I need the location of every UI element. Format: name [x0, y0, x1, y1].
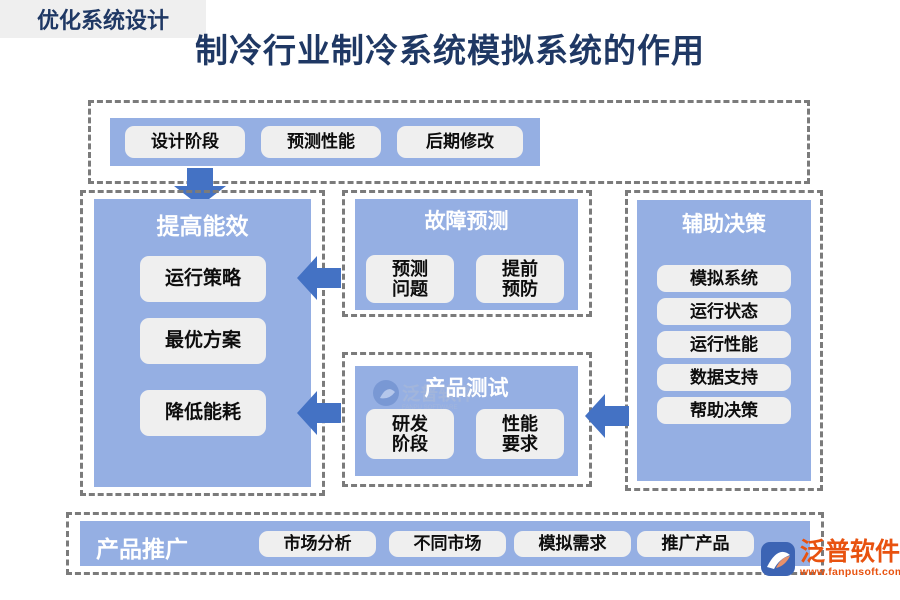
chip-rd-stage[interactable]: 研发 阶段: [366, 409, 454, 459]
chip-optimal-plan[interactable]: 最优方案: [140, 318, 266, 364]
top-chip-predict-performance[interactable]: 预测性能: [261, 126, 381, 158]
chip-predict-problem[interactable]: 预测 问题: [366, 255, 454, 303]
brand-logo[interactable]: 泛普软件 www.fanpusoft.com: [760, 540, 900, 578]
chip-line-1: 研发: [392, 414, 428, 434]
top-chip-later-modification[interactable]: 后期修改: [397, 126, 523, 158]
chip-line-2: 预防: [502, 279, 538, 299]
chip-line-1: 提前: [502, 259, 538, 279]
chip-market-analysis[interactable]: 市场分析: [259, 531, 376, 557]
arrow-left-icon-decision-to-testing: [585, 392, 629, 440]
fault-prediction-title: 故障预测: [355, 205, 578, 235]
chip-simulate-demand[interactable]: 模拟需求: [514, 531, 631, 557]
chip-early-prevention[interactable]: 提前 预防: [476, 255, 564, 303]
chip-line-1: 性能: [502, 414, 538, 434]
chip-line-2: 要求: [502, 434, 538, 454]
chip-operation-strategy[interactable]: 运行策略: [140, 256, 266, 302]
chip-reduce-energy[interactable]: 降低能耗: [140, 390, 266, 436]
product-promotion-title: 产品推广: [96, 530, 246, 564]
chip-different-market[interactable]: 不同市场: [389, 531, 506, 557]
arrow-left-icon-fault-to-efficiency: [297, 254, 341, 302]
chip-simulation-system[interactable]: 模拟系统: [657, 265, 791, 292]
improve-efficiency-title: 提高能效: [94, 207, 311, 241]
chip-help-decision[interactable]: 帮助决策: [657, 397, 791, 424]
chip-performance-requirement[interactable]: 性能 要求: [476, 409, 564, 459]
top-chip-design-stage[interactable]: 设计阶段: [125, 126, 245, 158]
arrow-left-icon-testing-to-efficiency: [297, 389, 341, 437]
chip-operating-status[interactable]: 运行状态: [657, 298, 791, 325]
logo-company-name: 泛普软件: [800, 540, 900, 565]
decision-support-title: 辅助决策: [637, 208, 811, 238]
product-testing-title: 产品测试: [355, 372, 578, 402]
chip-operating-performance[interactable]: 运行性能: [657, 331, 791, 358]
chip-promote-product[interactable]: 推广产品: [637, 531, 754, 557]
chip-line-2: 问题: [392, 279, 428, 299]
chip-line-1: 预测: [392, 259, 428, 279]
logo-website-url: www.fanpusoft.com: [800, 567, 900, 578]
logo-text-block: 泛普软件 www.fanpusoft.com: [800, 540, 900, 578]
diagram-canvas: 制冷行业制冷系统模拟系统的作用 设计阶段 预测性能 后期修改 优化系统设计 提高…: [0, 0, 900, 600]
chip-data-support[interactable]: 数据支持: [657, 364, 791, 391]
chip-line-2: 阶段: [392, 434, 428, 454]
fanpu-logo-icon: [760, 541, 796, 577]
page-title: 制冷行业制冷系统模拟系统的作用: [0, 24, 900, 72]
